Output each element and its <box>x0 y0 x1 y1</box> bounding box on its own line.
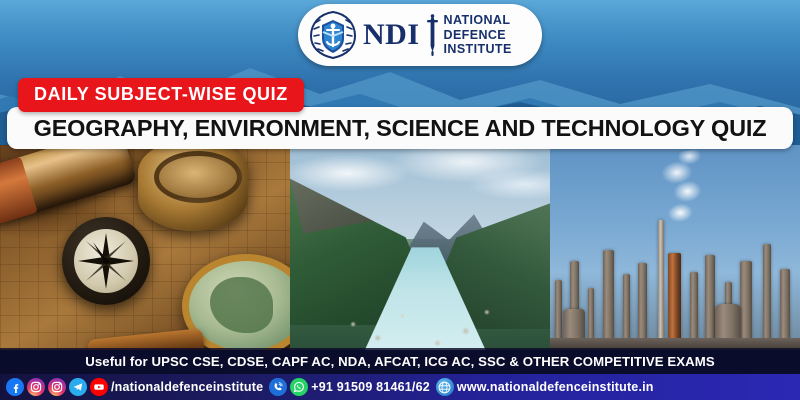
compass-icon <box>62 217 150 305</box>
useful-for-text: Useful for UPSC CSE, CDSE, CAPF AC, NDA,… <box>85 354 715 369</box>
brand-line-2: DEFENCE <box>444 28 512 43</box>
geography-panel <box>0 145 290 350</box>
brand-fullname: NATIONAL DEFENCE INSTITUTE <box>444 13 512 57</box>
facebook-icon[interactable] <box>6 378 24 396</box>
quiz-title-bar: GEOGRAPHY, ENVIRONMENT, SCIENCE AND TECH… <box>7 107 793 149</box>
brand-line-3: INSTITUTE <box>444 42 512 57</box>
ndi-crest-emblem-icon <box>306 8 360 62</box>
astrolabe-icon <box>138 145 248 231</box>
instagram-icon[interactable] <box>27 378 45 396</box>
instagram-icon[interactable] <box>48 378 66 396</box>
environment-panel <box>290 145 550 350</box>
riverbed-rocks <box>332 264 509 350</box>
promo-banner: NDI NATIONAL DEFENCE INSTITUTE DAILY SUB… <box>0 0 800 400</box>
refinery-towers <box>550 215 800 350</box>
page-title: GEOGRAPHY, ENVIRONMENT, SCIENCE AND TECH… <box>34 115 767 142</box>
globe-www-icon[interactable] <box>436 378 454 396</box>
brand-acronym: NDI <box>363 18 420 52</box>
useful-for-band: Useful for UPSC CSE, CDSE, CAPF AC, NDA,… <box>0 348 800 374</box>
website-url[interactable]: www.nationaldefenceinstitute.in <box>457 380 654 394</box>
sword-divider-icon <box>426 12 439 58</box>
photo-strip <box>0 145 800 350</box>
contact-footer: /nationaldefenceinstitute +91 91509 8146… <box>0 374 800 400</box>
viber-icon[interactable] <box>269 378 287 396</box>
whatsapp-icon[interactable] <box>290 378 308 396</box>
telegram-icon[interactable] <box>69 378 87 396</box>
phone-number[interactable]: +91 91509 81461/62 <box>311 380 430 394</box>
brand-line-1: NATIONAL <box>444 13 512 28</box>
social-handle[interactable]: /nationaldefenceinstitute <box>111 380 263 394</box>
ndi-logo[interactable]: NDI NATIONAL DEFENCE INSTITUTE <box>298 4 542 66</box>
youtube-icon[interactable] <box>90 378 108 396</box>
daily-quiz-tag: DAILY SUBJECT-WISE QUIZ <box>18 78 304 112</box>
technology-panel <box>550 145 800 350</box>
